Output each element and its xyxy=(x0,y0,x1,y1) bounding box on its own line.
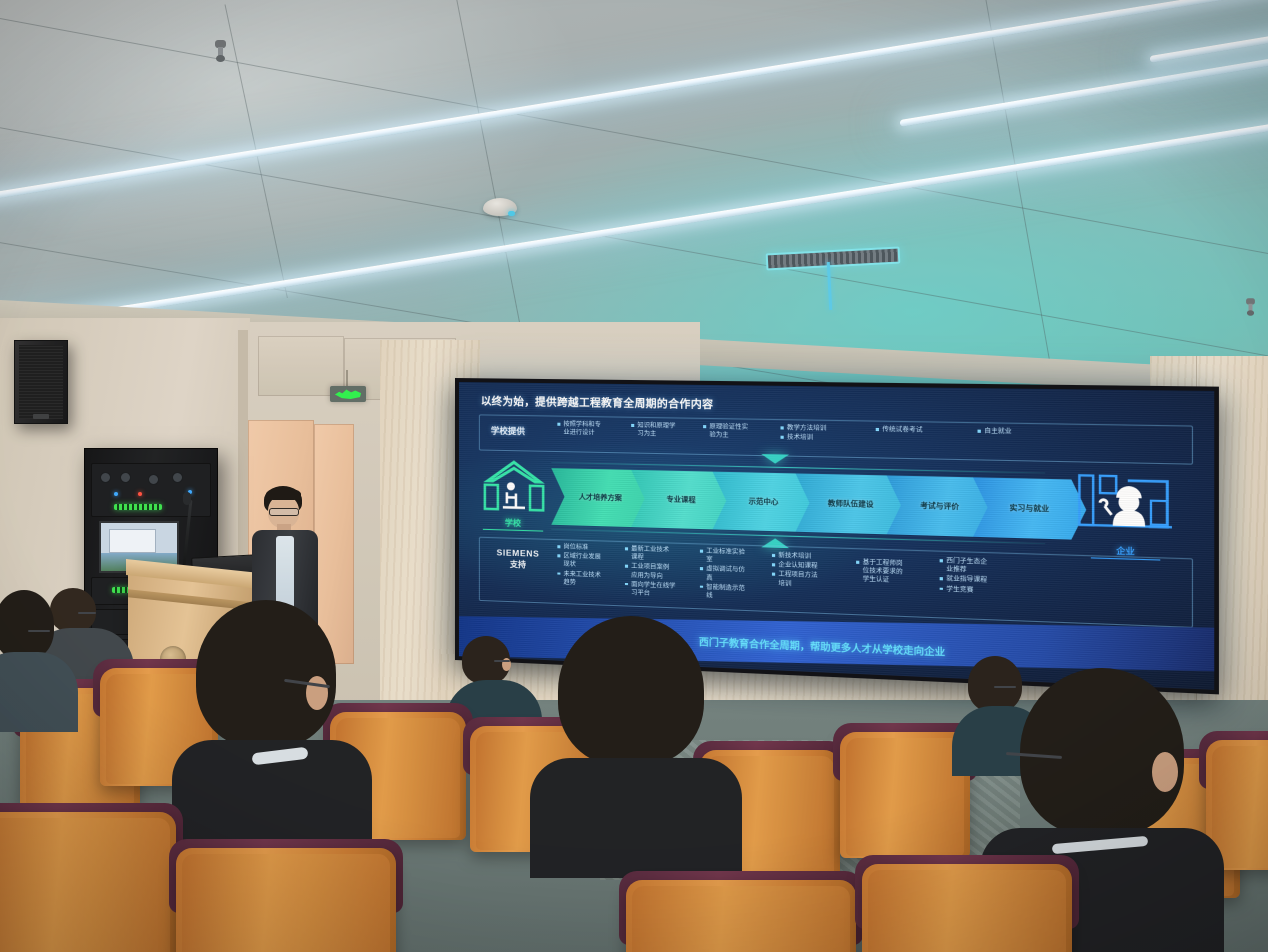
seat-cushion xyxy=(868,870,1066,952)
speaker-badge xyxy=(33,414,49,419)
bullet: 学生竞赛 xyxy=(940,585,1018,596)
exit-sign xyxy=(330,386,366,402)
process-step-label: 示范中心 xyxy=(749,496,779,507)
seat-cushion xyxy=(846,738,964,856)
school-bullets-col: 知识和原理学 习为主 xyxy=(631,422,700,441)
ear xyxy=(306,676,328,710)
running-man-icon xyxy=(335,389,361,400)
status-led xyxy=(138,492,142,496)
bullet: 未来工业技术 趋势 xyxy=(557,570,620,589)
school-icon xyxy=(483,459,545,517)
siemens-support-label: 支持 xyxy=(485,558,551,571)
process-step[interactable]: 实习与就业 xyxy=(973,477,1086,540)
siemens-bullets-col: 岗位标准 区域行业发展 现状 未来工业技术 趋势 xyxy=(557,543,620,590)
bullet: 技术培训 xyxy=(781,434,867,444)
auditorium-seat[interactable] xyxy=(862,864,1072,952)
seat-cushion xyxy=(182,854,390,952)
bullet: 按照学科和专 业进行设计 xyxy=(557,421,629,439)
auditorium-seat[interactable] xyxy=(626,880,856,952)
bullet: 工业标准实验 室 xyxy=(700,548,766,567)
presenter-hair-fringe xyxy=(266,488,301,500)
auditorium-seat[interactable] xyxy=(176,848,396,952)
sprinkler-head xyxy=(214,40,227,62)
enterprise-icon xyxy=(1077,467,1177,545)
bullet: 区域行业发展 现状 xyxy=(557,552,620,571)
bullet: 基于工程师岗 位技术要求的 学生认证 xyxy=(856,559,931,587)
siemens-bullets-col: 基于工程师岗 位技术要求的 学生认证 xyxy=(856,559,931,588)
process-step-label: 考试与评价 xyxy=(920,500,959,512)
glasses-arm xyxy=(28,630,50,632)
audience-head xyxy=(196,600,336,748)
siemens-wordmark: SIEMENS xyxy=(485,547,551,559)
wall-speaker xyxy=(14,340,68,424)
rack-knob[interactable] xyxy=(172,472,183,483)
rack-led-meter xyxy=(114,504,162,510)
slide-title: 以终为始，提供跨越工程教育全周期的合作内容 xyxy=(481,393,714,412)
school-bullets-col: 自主就业 xyxy=(978,427,1057,438)
factory-worker-icon xyxy=(1077,467,1177,545)
rack-knob[interactable] xyxy=(100,472,111,483)
ear xyxy=(1152,752,1178,792)
school-building-icon xyxy=(483,459,545,517)
bullet: 教学方法培训 xyxy=(781,424,867,434)
audience-head xyxy=(1020,668,1184,836)
school-row-label: 学校提供 xyxy=(491,425,525,438)
audience-member xyxy=(188,600,358,800)
speaker-grille xyxy=(19,345,63,419)
smoke-detector xyxy=(483,198,517,216)
school-label: 学校 xyxy=(483,517,543,532)
siemens-bullets-col: 工业标准实验 室 虚拟调试与仿 真 智能制造示范 线 xyxy=(700,548,766,604)
siemens-bullets-col: 新技术培训 企业认知课程 工程项目方法 培训 xyxy=(772,552,845,592)
process-step-label: 专业课程 xyxy=(666,494,695,505)
seat-cushion xyxy=(632,886,850,952)
seat-cushion xyxy=(0,818,170,952)
school-bullets-col: 原理验证性实 验为主 xyxy=(703,423,775,442)
siemens-logo: SIEMENS 支持 xyxy=(485,547,551,571)
audience-shoulders xyxy=(0,652,78,732)
audience-member xyxy=(0,590,70,710)
status-led xyxy=(114,492,118,496)
audience-head xyxy=(0,590,54,660)
seat-cushion xyxy=(1212,746,1268,868)
siemens-bullets-col: 最新工业技术 课程 工业项目案例 应用为导向 面向学生在线学 习平台 xyxy=(625,545,696,601)
microphone-head xyxy=(183,492,191,505)
process-step-label: 实习与就业 xyxy=(1010,503,1050,515)
audience-head xyxy=(558,616,704,766)
bullet: 虚拟调试与仿 真 xyxy=(700,565,766,584)
school-bullets-col: 传统试卷考试 xyxy=(876,426,969,437)
sprinkler-head xyxy=(1245,298,1255,316)
bullet: 工业项目案例 应用为导向 xyxy=(625,563,696,582)
process-step-label: 人才培养方案 xyxy=(579,492,622,503)
down-arrow-icon xyxy=(761,454,789,464)
bullet: 最新工业技术 课程 xyxy=(625,545,696,564)
process-step[interactable]: 教师队伍建设 xyxy=(796,473,907,534)
auditorium-seat[interactable] xyxy=(840,732,970,858)
rack-control-panel[interactable] xyxy=(91,463,211,517)
bullet: 原理验证性实 验为主 xyxy=(703,423,775,441)
rack-knob[interactable] xyxy=(120,472,131,483)
audience-shoulders xyxy=(530,758,742,878)
bullet: 工程项目方法 培训 xyxy=(772,571,845,591)
process-step-label: 教师队伍建设 xyxy=(828,498,874,510)
school-bullets-col: 教学方法培训 技术培训 xyxy=(781,424,867,445)
screenshot-root: 以终为始，提供跨越工程教育全周期的合作内容 学校提供 按照学科和专 业进行设计 … xyxy=(0,0,1268,952)
bullet: 西门子生态企 业推荐 xyxy=(940,557,1018,577)
bullet: 传统试卷考试 xyxy=(876,426,969,436)
bullet: 知识和原理学 习为主 xyxy=(631,422,700,440)
bullet: 面向学生在线学 习平台 xyxy=(625,581,696,600)
bullet: 自主就业 xyxy=(978,427,1057,437)
auditorium-seat[interactable] xyxy=(0,812,176,952)
siemens-bullets-col: 西门子生态企 业推荐 就业指导课程 学生竞赛 xyxy=(940,557,1018,598)
monitor-window xyxy=(109,529,157,553)
glasses xyxy=(269,508,299,516)
glasses-arm xyxy=(78,612,96,614)
audience-member xyxy=(552,616,722,816)
bullet: 智能制造示范 线 xyxy=(700,583,766,602)
school-bullets-col: 按照学科和专 业进行设计 xyxy=(557,421,629,440)
rack-knob[interactable] xyxy=(148,474,159,485)
glasses-arm xyxy=(494,660,510,662)
